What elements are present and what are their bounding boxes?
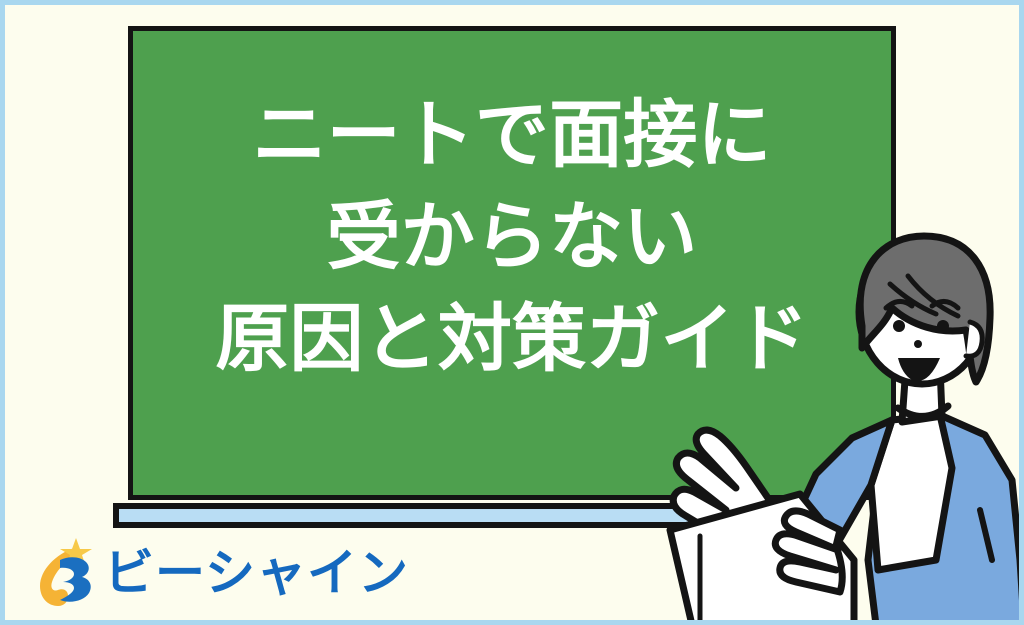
site-logo[interactable]: ビーシャイン [36, 536, 409, 610]
b-shine-logo-mark [36, 538, 98, 608]
presenter-illustration [640, 230, 1024, 625]
holding-hand [775, 511, 842, 592]
nose [914, 340, 922, 348]
thumbnail-canvas: ニートで面接に 受からない 原因と対策ガイド [0, 0, 1024, 625]
eye-right [937, 320, 949, 332]
logo-wordmark: ビーシャイン [104, 548, 409, 598]
eye-left [893, 320, 905, 332]
title-line-1: ニートで面接に [128, 84, 896, 186]
